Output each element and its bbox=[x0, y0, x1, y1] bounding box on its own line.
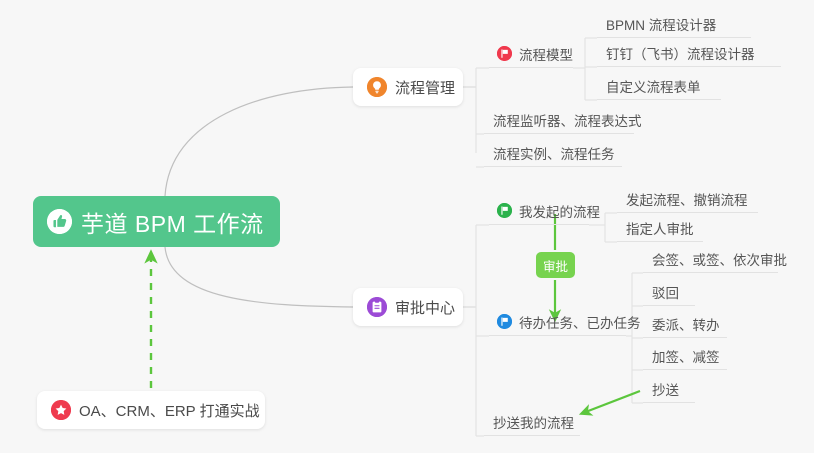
flag-icon bbox=[497, 203, 512, 218]
leaf-node-assignee-approval[interactable]: 指定人审批 bbox=[617, 214, 703, 242]
connector-root-to-process-management bbox=[165, 87, 353, 196]
leaf-label-custom-form: 自定义流程表单 bbox=[606, 76, 701, 96]
branch-node-todo-done-task[interactable]: 待办任务、已办任务 bbox=[489, 308, 626, 336]
leaf-node-start-cancel[interactable]: 发起流程、撤销流程 bbox=[617, 185, 758, 213]
leaf-node-instance-task[interactable]: 流程实例、流程任务 bbox=[484, 139, 622, 167]
leaf-label-start-cancel: 发起流程、撤销流程 bbox=[626, 189, 748, 209]
leaf-label-listener-expression: 流程监听器、流程表达式 bbox=[493, 110, 642, 130]
flag-icon bbox=[497, 314, 512, 329]
leaf-node-reject[interactable]: 驳回 bbox=[643, 278, 695, 306]
connector-root-to-approval-center bbox=[165, 247, 353, 307]
thumbs-up-icon bbox=[47, 209, 72, 234]
leaf-label-assignee-approval: 指定人审批 bbox=[626, 218, 694, 238]
branch-label-process-management: 流程管理 bbox=[395, 77, 455, 98]
branch-node-process-management[interactable]: 流程管理 bbox=[353, 68, 463, 106]
lightbulb-icon bbox=[367, 77, 387, 97]
flag-icon bbox=[497, 46, 512, 61]
root-node[interactable]: 芋道 BPM 工作流 bbox=[33, 196, 280, 247]
leaf-label-dingtalk-designer: 钉钉（飞书）流程设计器 bbox=[606, 43, 755, 63]
leaf-label-bpmn-designer: BPMN 流程设计器 bbox=[606, 14, 716, 34]
leaf-label-instance-task: 流程实例、流程任务 bbox=[493, 143, 615, 163]
leaf-label-delegate-transfer: 委派、转办 bbox=[652, 314, 720, 334]
star-icon bbox=[51, 400, 71, 420]
root-label: 芋道 BPM 工作流 bbox=[81, 205, 264, 239]
leaf-label-add-remove-sign: 加签、减签 bbox=[652, 346, 720, 366]
leaf-node-add-remove-sign[interactable]: 加签、减签 bbox=[643, 342, 727, 370]
branch-node-my-started-process[interactable]: 我发起的流程 bbox=[489, 197, 589, 225]
branch-node-process-model[interactable]: 流程模型 bbox=[489, 40, 573, 68]
leaf-node-bpmn-designer[interactable]: BPMN 流程设计器 bbox=[597, 10, 751, 38]
leaf-node-carbon-copy[interactable]: 抄送 bbox=[643, 375, 695, 403]
branch-label-process-model: 流程模型 bbox=[519, 44, 573, 64]
branch-label-my-started-process: 我发起的流程 bbox=[519, 201, 600, 221]
leaf-label-countersign: 会签、或签、依次审批 bbox=[652, 249, 787, 269]
branch-label-approval-center: 审批中心 bbox=[395, 297, 455, 318]
floating-node-integration-practice[interactable]: OA、CRM、ERP 打通实战 bbox=[37, 391, 265, 429]
approval-flow-badge-label: 审批 bbox=[543, 256, 568, 275]
leaf-node-dingtalk-designer[interactable]: 钉钉（飞书）流程设计器 bbox=[597, 39, 781, 67]
leaf-label-carbon-copy: 抄送 bbox=[652, 379, 679, 399]
leaf-label-cc-my-process: 抄送我的流程 bbox=[493, 412, 574, 432]
approval-flow-badge[interactable]: 审批 bbox=[536, 252, 575, 278]
leaf-node-custom-form[interactable]: 自定义流程表单 bbox=[597, 72, 721, 100]
leaf-node-cc-my-process[interactable]: 抄送我的流程 bbox=[484, 408, 580, 436]
clipboard-icon bbox=[367, 297, 387, 317]
leaf-node-listener-expression[interactable]: 流程监听器、流程表达式 bbox=[484, 106, 634, 134]
arrow-cc-to-cc-my-process bbox=[583, 391, 640, 413]
branch-label-todo-done-task: 待办任务、已办任务 bbox=[519, 312, 641, 332]
leaf-node-delegate-transfer[interactable]: 委派、转办 bbox=[643, 310, 727, 338]
leaf-node-countersign[interactable]: 会签、或签、依次审批 bbox=[643, 245, 778, 273]
leaf-label-reject: 驳回 bbox=[652, 282, 679, 302]
branch-node-approval-center[interactable]: 审批中心 bbox=[353, 288, 463, 326]
floating-label-integration-practice: OA、CRM、ERP 打通实战 bbox=[79, 400, 260, 421]
mindmap-canvas: 芋道 BPM 工作流 流程管理 流程模型 BPMN 流程设计器 钉钉（飞书 bbox=[0, 0, 814, 453]
